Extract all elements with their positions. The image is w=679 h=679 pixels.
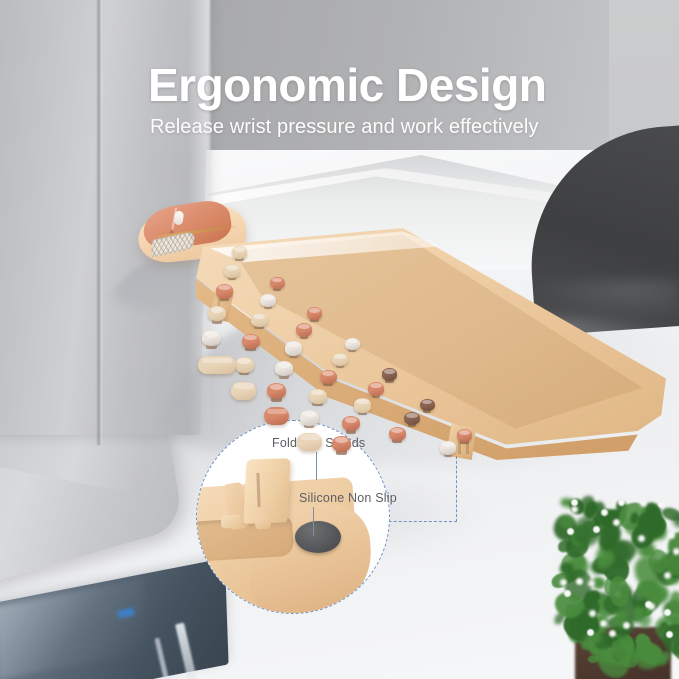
keycap — [216, 284, 233, 299]
callout-foldable-stand — [243, 458, 290, 524]
keycap — [382, 368, 397, 381]
keycap — [368, 382, 384, 396]
plant-leaf — [609, 576, 629, 607]
keycap — [224, 264, 240, 278]
keycap — [332, 353, 348, 367]
plant-flower — [638, 535, 645, 542]
keycap — [260, 294, 276, 308]
potted-plant — [545, 477, 679, 679]
keycap — [231, 382, 256, 400]
keycap — [320, 370, 337, 385]
keycap — [300, 410, 319, 426]
page-title: Ergonomic Design — [148, 58, 546, 112]
plant-flower — [666, 631, 673, 638]
keycap — [342, 416, 360, 431]
keycap — [267, 383, 286, 399]
callout-stand-hinge-left — [221, 514, 242, 528]
keycap — [309, 389, 327, 404]
keycap — [440, 441, 456, 455]
plant-flower — [618, 499, 625, 506]
plant-flower — [613, 519, 620, 526]
product-marketing-image: Ergonomic Design Release wrist pressure … — [0, 0, 679, 679]
keycap — [285, 341, 302, 356]
monitor-seam — [96, 0, 102, 445]
plant-flower — [673, 548, 679, 555]
keycap — [232, 246, 247, 259]
keycap — [198, 356, 236, 374]
plant-flower — [600, 620, 607, 627]
callout-silicone-pad — [295, 521, 341, 553]
keycap — [332, 436, 351, 452]
keycap — [235, 357, 254, 373]
callout-stand-hinge-right — [255, 516, 272, 529]
keycap — [242, 334, 260, 349]
plant-flower — [593, 526, 600, 533]
keycap — [389, 427, 406, 442]
keycap — [270, 277, 285, 290]
plant-flower — [560, 579, 567, 586]
callout-label-silicone-non-slip: Silicone Non Slip — [299, 491, 397, 505]
keycap — [296, 323, 312, 337]
keycap — [275, 361, 293, 376]
plant-flower — [587, 629, 594, 636]
plant-flower — [640, 500, 647, 507]
plant-flower — [609, 630, 616, 637]
keycap — [251, 313, 268, 328]
keycap — [202, 330, 221, 346]
callout-leader-line-silicone-non-slip — [313, 507, 314, 536]
keycap — [208, 306, 226, 321]
page-subtitle: Release wrist pressure and work effectiv… — [150, 116, 539, 139]
keycap — [457, 429, 472, 442]
plant-flower — [658, 501, 665, 508]
keycap — [404, 412, 420, 426]
plant-flower — [623, 622, 630, 629]
keycap — [345, 338, 360, 351]
keycap — [307, 307, 322, 320]
keycap — [354, 398, 371, 413]
plant-flower — [668, 532, 675, 539]
callout-connector-vertical — [456, 456, 457, 522]
keycap — [420, 399, 435, 412]
keycap — [297, 433, 322, 451]
keycap — [264, 407, 289, 425]
callout-leader-line-foldable-stands — [316, 452, 317, 480]
